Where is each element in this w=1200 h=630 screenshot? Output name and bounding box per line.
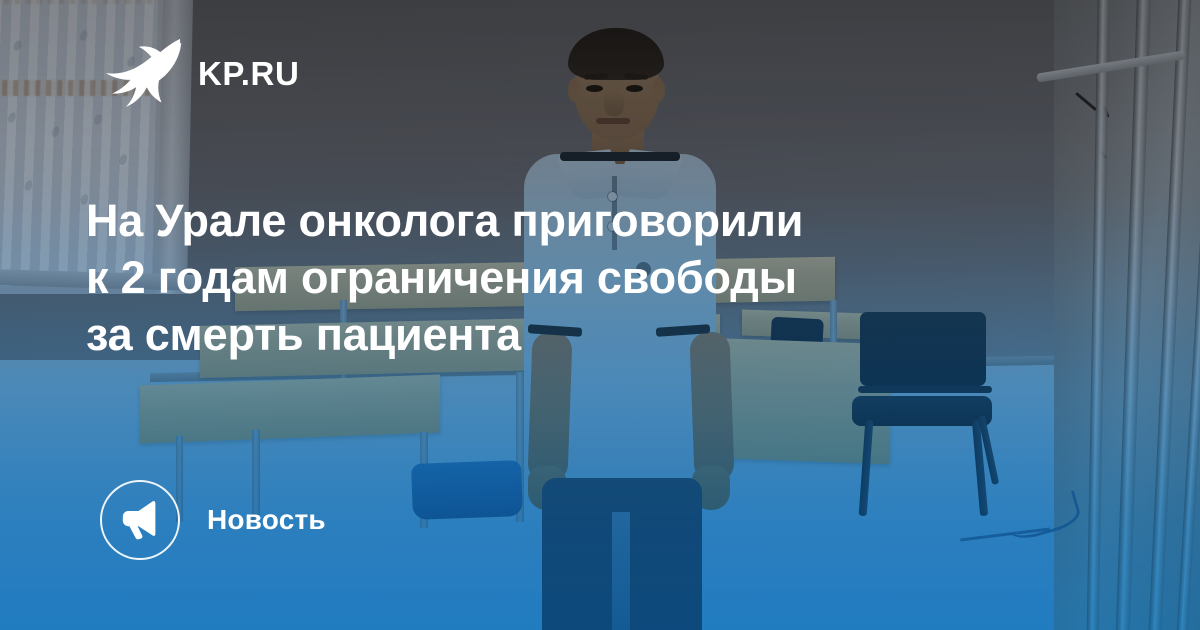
status-badge[interactable]: Новость — [100, 480, 326, 560]
swallow-bird-icon — [104, 36, 182, 110]
badge-label: Новость — [207, 506, 326, 534]
megaphone-icon — [119, 499, 161, 541]
brand-logo[interactable]: KP.RU — [104, 36, 299, 110]
page-title: На Урале онколога приговорили к 2 годам … — [86, 192, 1086, 363]
brand-logo-text: KP.RU — [198, 57, 299, 90]
badge-circle — [100, 480, 180, 560]
news-share-card: KP.RU На Урале онколога приговорили к 2 … — [0, 0, 1200, 630]
card-content: KP.RU На Урале онколога приговорили к 2 … — [0, 0, 1200, 630]
